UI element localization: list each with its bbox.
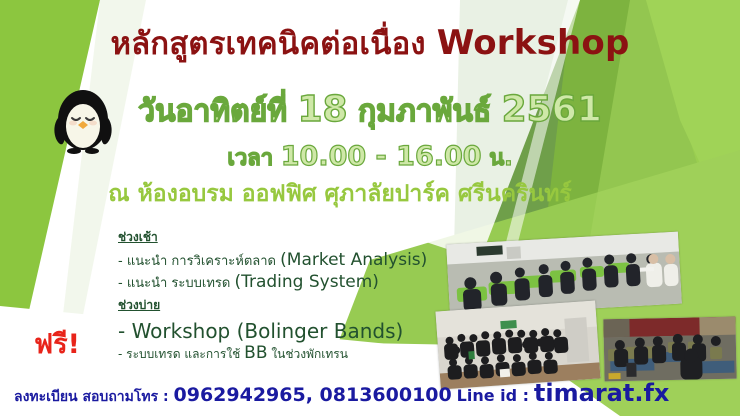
agenda-item-thai-post: ในช่วงพักเทรน xyxy=(271,347,348,361)
date-prefix: วันอาทิตย์ที่ xyxy=(138,94,287,129)
event-venue: ณ ห้องอบรม ออฟฟิศ ศุภาลัยปาร์ค ศรีนครินท… xyxy=(0,176,680,212)
contact-footer: ลงทะเบียน สอบถามโทร : 0962942965, 081360… xyxy=(14,379,669,408)
title-english: Workshop xyxy=(437,23,630,63)
agenda-morning-item-1: - แนะนำ การวิเคราะห์ตลาด (Market Analysi… xyxy=(118,250,427,272)
line-id-label: Line id : xyxy=(457,386,529,405)
agenda-afternoon-heading: ช่วงบ่าย xyxy=(118,296,427,315)
time-label: เวลา xyxy=(227,146,273,171)
title-thai: หลักสูตรเทคนิคต่อเนื่อง xyxy=(110,26,425,62)
date-month: กุมภาพันธ์ xyxy=(358,94,491,129)
agenda-item-thai: แนะนำ การวิเคราะห์ตลาด xyxy=(127,254,276,269)
agenda-item-thai-pre: - ระบบเทรด และการใช้ xyxy=(118,347,240,361)
time-range: 10.00 - 16.00 xyxy=(281,141,482,172)
poster-title: หลักสูตรเทคนิคต่อเนื่อง Workshop xyxy=(0,18,740,68)
penguin-mascot-icon xyxy=(52,82,114,158)
date-year: 2561 xyxy=(502,89,602,130)
bullet-dash: - xyxy=(118,276,123,291)
bullet-dash: - xyxy=(118,254,123,269)
free-badge: ฟรี! xyxy=(34,322,80,365)
agenda-item-thai: แนะนำ ระบบเทรด xyxy=(127,276,230,291)
agenda-item-english: (Market Analysis) xyxy=(280,250,427,270)
contact-phones: 0962942965, 0813600100 xyxy=(174,384,452,406)
line-id-handle: timarat.fx xyxy=(534,379,669,407)
date-day: 18 xyxy=(297,89,347,130)
agenda-afternoon-item-1: - Workshop (Bolinger Bands) xyxy=(118,318,427,344)
agenda-morning-heading: ช่วงเช้า xyxy=(118,228,427,247)
photo-seminar-room xyxy=(603,317,736,382)
register-label: ลงทะเบียน สอบถามโทร : xyxy=(14,389,169,405)
agenda-afternoon-item-2: - ระบบเทรด และการใช้ BB ในช่วงพักเทรน xyxy=(118,344,427,364)
agenda-morning-item-2: - แนะนำ ระบบเทรด (Trading System) xyxy=(118,272,427,294)
agenda-item-bb: BB xyxy=(244,343,267,363)
agenda-block: ช่วงเช้า - แนะนำ การวิเคราะห์ตลาด (Marke… xyxy=(118,226,427,364)
photo-group-black-shirts xyxy=(435,301,600,390)
agenda-item-english: (Trading System) xyxy=(234,272,378,292)
time-suffix: น. xyxy=(489,146,512,171)
poster-canvas: หลักสูตรเทคนิคต่อเนื่อง Workshop วันอาทิ… xyxy=(0,0,740,416)
